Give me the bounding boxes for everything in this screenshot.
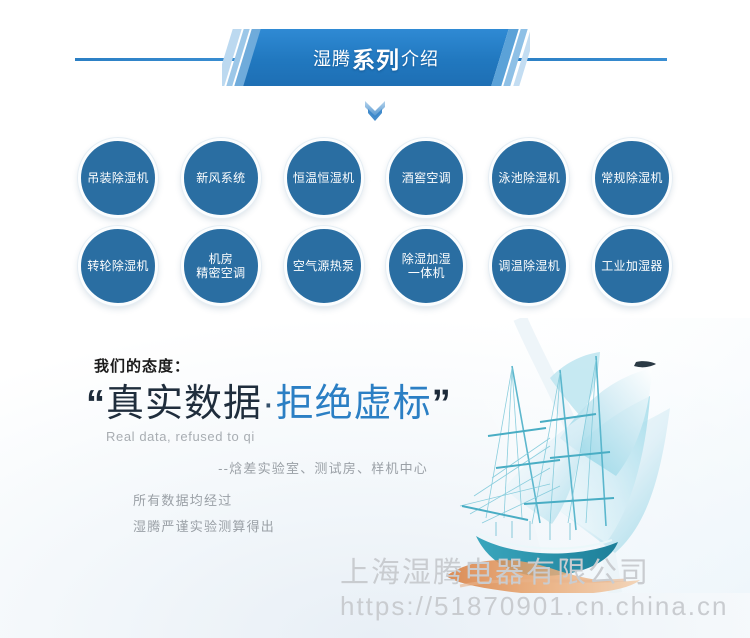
category-bubble-kongqiyuan[interactable]: 空气源热泵 <box>284 226 364 306</box>
header-rule-left <box>75 58 240 61</box>
banner-title-suffix: 介绍 <box>401 45 439 71</box>
attitude-english-subtitle: Real data, refused to qi <box>106 429 506 444</box>
attitude-note-line-1: 所有数据均经过 <box>133 488 275 514</box>
category-row-2: 转轮除湿机 机房精密空调 空气源热泵 除湿加湿一体机 调温除湿机 工业加湿器 <box>78 226 672 306</box>
category-label: 吊装除湿机 <box>83 171 153 185</box>
attitude-label: 我们的态度： <box>94 355 506 376</box>
category-bubble-tiaowen[interactable]: 调温除湿机 <box>489 226 569 306</box>
category-bubble-jiujiao[interactable]: 酒窖空调 <box>386 138 466 218</box>
category-label: 新风系统 <box>192 171 249 185</box>
category-label: 恒温恒湿机 <box>289 171 359 185</box>
category-bubble-xinfeng[interactable]: 新风系统 <box>181 138 261 218</box>
category-label: 机房精密空调 <box>192 252 249 280</box>
watermark-url: https://51870901.cn.china.cn <box>340 590 728 622</box>
attitude-quote: “真实数据·拒绝虚标” <box>86 381 506 427</box>
chevron-double-down-icon <box>363 99 387 125</box>
category-bubble-gongye[interactable]: 工业加湿器 <box>592 226 672 306</box>
category-label: 空气源热泵 <box>289 259 359 273</box>
category-bubble-jifang[interactable]: 机房精密空调 <box>181 226 261 306</box>
attitude-notes: 所有数据均经过 湿腾严谨实验测算得出 <box>133 488 275 540</box>
category-bubble-zhuanlun[interactable]: 转轮除湿机 <box>78 226 158 306</box>
category-label: 酒窖空调 <box>398 171 455 185</box>
attitude-block: 我们的态度： “真实数据·拒绝虚标” Real data, refused to… <box>86 355 506 477</box>
category-label: 常规除湿机 <box>597 171 667 185</box>
category-label: 工业加湿器 <box>597 259 667 273</box>
attitude-lab-line: --焓差实验室、测试房、样机中心 <box>86 458 506 477</box>
category-bubble-hengwen[interactable]: 恒温恒湿机 <box>284 138 364 218</box>
category-bubble-diaozhuang[interactable]: 吊装除湿机 <box>78 138 158 218</box>
page-canvas: 湿腾系列介绍 吊装除湿机 新风系统 恒温恒湿机 酒窖空调 泳池除湿机 常规除湿机 <box>0 0 750 638</box>
category-label: 除湿加湿一体机 <box>398 252 455 280</box>
category-bubble-changgui[interactable]: 常规除湿机 <box>592 138 672 218</box>
quote-separator-dot: · <box>262 383 276 425</box>
banner-title-prefix: 湿腾 <box>313 45 351 71</box>
category-bubble-yongchi[interactable]: 泳池除湿机 <box>489 138 569 218</box>
category-grid: 吊装除湿机 新风系统 恒温恒湿机 酒窖空调 泳池除湿机 常规除湿机 转轮除湿机 … <box>78 138 672 306</box>
quote-close-mark: ” <box>432 383 452 425</box>
category-row-1: 吊装除湿机 新风系统 恒温恒湿机 酒窖空调 泳池除湿机 常规除湿机 <box>78 138 672 218</box>
quote-blue-text: 拒绝虚标 <box>276 383 432 425</box>
quote-open-mark: “ <box>86 383 106 425</box>
attitude-note-line-2: 湿腾严谨实验测算得出 <box>133 514 275 540</box>
category-label: 调温除湿机 <box>494 259 564 273</box>
banner-title: 湿腾系列介绍 <box>222 29 530 86</box>
banner-title-emphasis: 系列 <box>352 41 400 75</box>
category-bubble-chushijiashi[interactable]: 除湿加湿一体机 <box>386 226 466 306</box>
header-rule-right <box>512 58 667 61</box>
quote-dark-text: 真实数据 <box>106 383 262 425</box>
category-label: 转轮除湿机 <box>83 259 153 273</box>
section-banner: 湿腾系列介绍 <box>222 29 530 86</box>
category-label: 泳池除湿机 <box>494 171 564 185</box>
